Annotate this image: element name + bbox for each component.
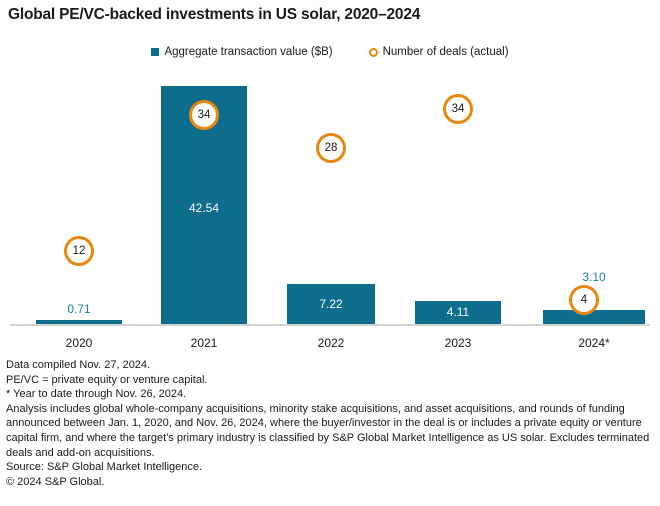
x-axis-label-2020: 2020 bbox=[36, 336, 122, 350]
x-axis-label-2023: 2023 bbox=[415, 336, 501, 350]
bar-value-label-2022: 7.22 bbox=[287, 297, 375, 311]
footnote-source: Source: S&P Global Market Intelligence. bbox=[6, 460, 654, 475]
chart-legend: Aggregate transaction value ($B) Number … bbox=[0, 46, 660, 58]
footnote-line-2: PE/VC = private equity or venture capita… bbox=[6, 373, 654, 388]
chart-footnotes: Data compiled Nov. 27, 2024. PE/VC = pri… bbox=[6, 358, 654, 489]
bar-2020[interactable] bbox=[36, 320, 122, 324]
deal-count-marker-2024[interactable]: 4 bbox=[569, 285, 599, 315]
deal-count-marker-2021[interactable]: 34 bbox=[189, 100, 219, 130]
legend-circle-marker-icon bbox=[369, 48, 378, 57]
chart-title: Global PE/VC-backed investments in US so… bbox=[8, 6, 420, 24]
legend-item-number-of-deals[interactable]: Number of deals (actual) bbox=[369, 46, 509, 58]
x-axis-label-2024: 2024* bbox=[543, 336, 645, 350]
x-axis-labels: 2020 2021 2022 2023 2024* bbox=[0, 336, 660, 354]
legend-item-aggregate-transaction-value[interactable]: Aggregate transaction value ($B) bbox=[151, 46, 332, 58]
legend-square-marker-icon bbox=[151, 48, 159, 56]
legend-label-aggregate-transaction-value: Aggregate transaction value ($B) bbox=[164, 46, 332, 58]
deal-count-marker-2020[interactable]: 12 bbox=[64, 236, 94, 266]
x-axis-label-2022: 2022 bbox=[287, 336, 375, 350]
footnote-copyright: © 2024 S&P Global. bbox=[6, 475, 654, 490]
deal-count-marker-2023[interactable]: 34 bbox=[443, 94, 473, 124]
bar-value-label-2024: 3.10 bbox=[543, 270, 645, 284]
x-axis-label-2021: 2021 bbox=[161, 336, 247, 350]
bar-value-label-2023: 4.11 bbox=[415, 305, 501, 319]
bar-2024[interactable] bbox=[543, 310, 645, 324]
footnote-line-3: * Year to date through Nov. 26, 2024. bbox=[6, 387, 654, 402]
legend-label-number-of-deals: Number of deals (actual) bbox=[383, 46, 509, 58]
x-axis-baseline bbox=[10, 324, 650, 326]
bar-value-label-2021: 42.54 bbox=[161, 201, 247, 215]
chart-plot-area: 0.71 12 42.54 34 7.22 28 4.11 34 3.10 4 bbox=[0, 70, 660, 332]
bar-value-label-2020: 0.71 bbox=[36, 302, 122, 316]
footnote-methodology: Analysis includes global whole-company a… bbox=[6, 402, 654, 460]
footnote-line-1: Data compiled Nov. 27, 2024. bbox=[6, 358, 654, 373]
deal-count-marker-2022[interactable]: 28 bbox=[316, 133, 346, 163]
